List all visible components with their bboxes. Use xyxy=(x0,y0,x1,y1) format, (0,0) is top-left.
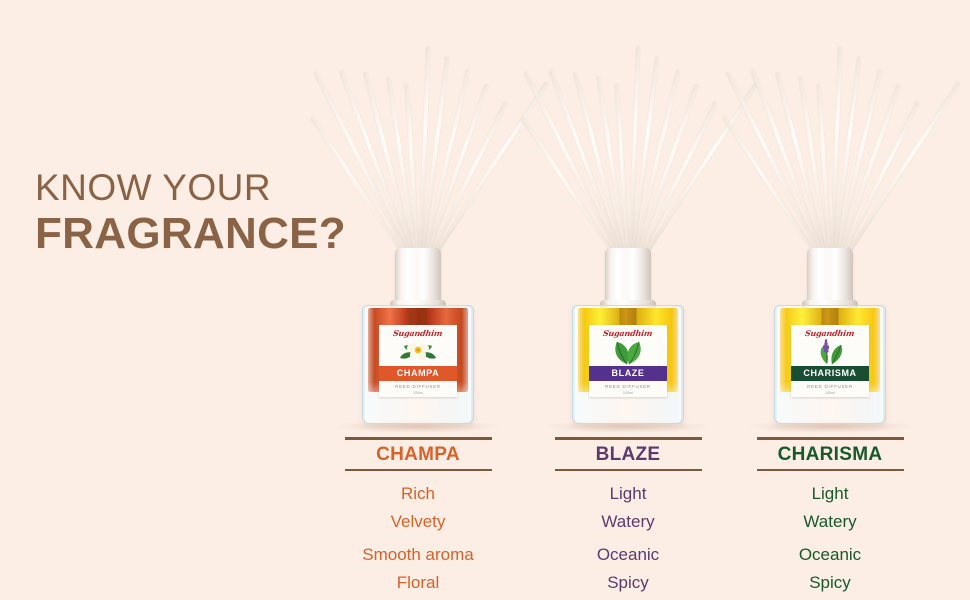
note-item: Velvety xyxy=(318,508,518,536)
note-item: Watery xyxy=(730,508,930,536)
bottle-glass: Sugandhim xyxy=(774,305,886,424)
poster-canvas: KNOW YOUR FRAGRANCE? Sugandhim xyxy=(0,0,970,600)
divider-bottom xyxy=(757,469,904,472)
diffuser-bottle: Sugandhim xyxy=(358,248,478,424)
note-item: Rich xyxy=(318,480,518,508)
diffuser-bottle: Sugandhim BLAZE REED DIFFUSER 100ml xyxy=(568,248,688,424)
bottle-collar xyxy=(605,248,651,308)
note-item: Watery xyxy=(528,508,728,536)
fragrance-title: CHAMPA xyxy=(318,440,518,469)
note-item: Light xyxy=(528,480,728,508)
label-fragrance-name: CHAMPA xyxy=(379,366,457,381)
glass-highlight-left xyxy=(575,307,584,422)
fragrance-notes-block: CHARISMA Light Watery Oceanic Spicy xyxy=(730,437,930,596)
label-subtitle: REED DIFFUSER xyxy=(605,384,651,389)
glass-highlight-left xyxy=(777,307,786,422)
diffuser-bottle: Sugandhim xyxy=(770,248,890,424)
bottle-glass: Sugandhim xyxy=(362,305,474,424)
notes-list: Light Watery Oceanic Spicy xyxy=(730,480,930,596)
fragrance-title: BLAZE xyxy=(528,440,728,469)
note-item: Spicy xyxy=(730,569,930,597)
bottle-label: Sugandhim xyxy=(379,325,457,397)
note-item: Light xyxy=(730,480,930,508)
reed-sticks xyxy=(705,18,955,278)
glass-highlight-right xyxy=(462,307,471,422)
bottle-label: Sugandhim xyxy=(791,325,869,397)
glass-highlight-right xyxy=(672,307,681,422)
bottle-collar xyxy=(807,248,853,308)
divider-bottom xyxy=(555,469,702,472)
brand-name: Sugandhim xyxy=(805,328,856,338)
product-card-charisma[interactable]: Sugandhim xyxy=(705,0,955,600)
champa-flower-icon xyxy=(379,339,457,365)
label-volume: 100ml xyxy=(825,391,835,395)
note-item: Spicy xyxy=(528,569,728,597)
note-item: Smooth aroma xyxy=(318,541,518,569)
brand-name: Sugandhim xyxy=(393,328,444,338)
note-item: Floral xyxy=(318,569,518,597)
fragrance-notes-block: BLAZE Light Watery Oceanic Spicy xyxy=(528,437,728,596)
label-volume: 100ml xyxy=(623,391,633,395)
notes-list: Light Watery Oceanic Spicy xyxy=(528,480,728,596)
glass-highlight-right xyxy=(874,307,883,422)
green-leaves-icon xyxy=(589,339,667,365)
label-subtitle: REED DIFFUSER xyxy=(395,384,441,389)
glass-highlight-left xyxy=(365,307,374,422)
label-fragrance-name: BLAZE xyxy=(589,366,667,381)
divider-bottom xyxy=(345,469,492,472)
label-fragrance-name: CHARISMA xyxy=(791,366,869,381)
label-subtitle: REED DIFFUSER xyxy=(807,384,853,389)
note-item: Oceanic xyxy=(730,541,930,569)
fragrance-notes-block: CHAMPA Rich Velvety Smooth aroma Floral xyxy=(318,437,518,596)
lavender-sprig-icon xyxy=(791,339,869,365)
fragrance-title: CHARISMA xyxy=(730,440,930,469)
bottle-collar xyxy=(395,248,441,308)
label-volume: 100ml xyxy=(413,391,423,395)
bottle-glass: Sugandhim BLAZE REED DIFFUSER 100ml xyxy=(572,305,684,424)
bottle-label: Sugandhim BLAZE REED DIFFUSER 100ml xyxy=(589,325,667,397)
notes-list: Rich Velvety Smooth aroma Floral xyxy=(318,480,518,596)
brand-name: Sugandhim xyxy=(603,328,654,338)
note-item: Oceanic xyxy=(528,541,728,569)
